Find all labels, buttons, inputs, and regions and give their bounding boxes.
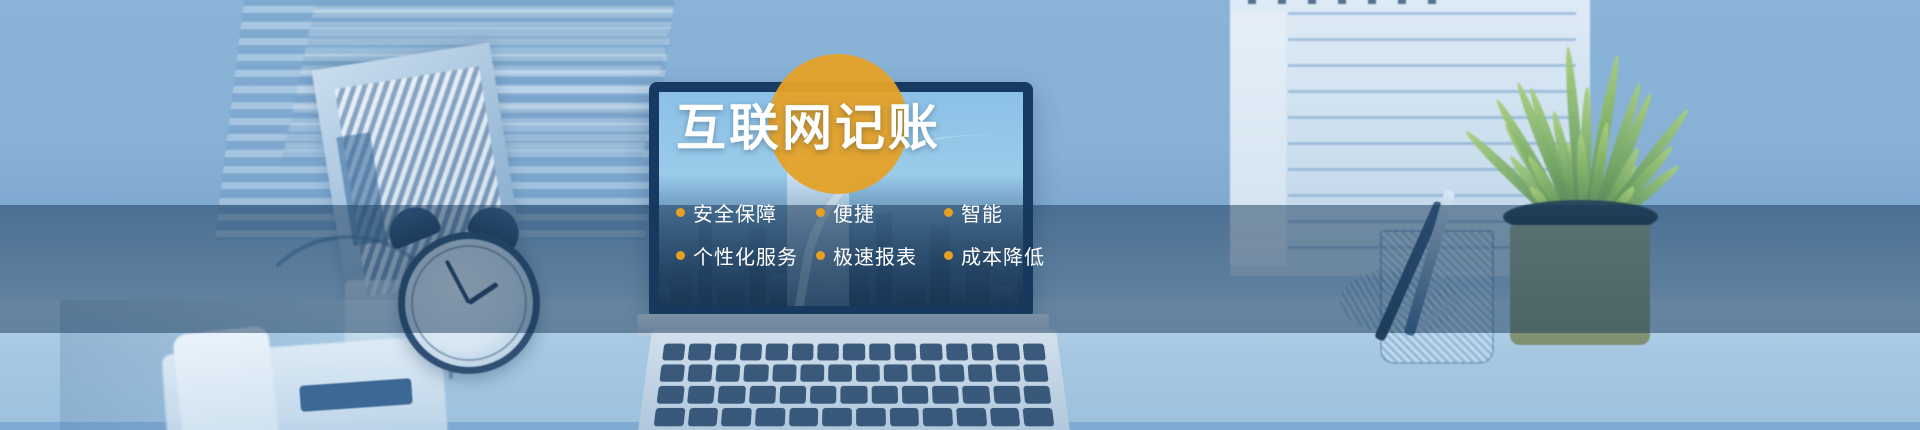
keyboard-key	[889, 408, 919, 426]
keyboard-key	[843, 344, 865, 361]
keyboard-key	[791, 344, 813, 361]
keyboard-key	[962, 386, 990, 404]
keyboard-key	[993, 386, 1021, 404]
laptop-keyboard	[654, 344, 1055, 427]
banner-content: 互联网记账 安全保障 便捷 智能 个性化服务	[676, 78, 1096, 284]
keyboard-key	[894, 344, 916, 361]
keyboard-key	[1023, 364, 1049, 381]
feature-label: 成本降低	[961, 241, 1045, 270]
keyboard-key	[800, 364, 824, 381]
keyboard-key	[789, 408, 819, 426]
feature-row-2: 个性化服务 极速报表 成本降低	[676, 241, 1056, 270]
keyboard-key	[662, 344, 686, 361]
dot-icon	[816, 208, 825, 217]
keyboard-key	[828, 364, 852, 381]
keyboard-key	[657, 386, 685, 404]
feature-label: 智能	[961, 198, 1003, 227]
keyboard-key	[997, 344, 1020, 361]
keyboard-key	[920, 344, 943, 361]
keyboard-key	[902, 386, 929, 404]
keyboard-key	[659, 364, 685, 381]
keyboard-key	[772, 364, 797, 381]
keyboard-key	[884, 364, 908, 381]
keyboard-key	[990, 408, 1021, 426]
feature-item-personalized-service: 个性化服务	[676, 241, 816, 270]
keyboard-key	[687, 408, 718, 426]
feature-row-1: 安全保障 便捷 智能	[676, 198, 1056, 227]
keyboard-key	[688, 344, 711, 361]
keyboard-key	[755, 408, 785, 426]
keyboard-key	[939, 364, 964, 381]
keyboard-key	[740, 344, 763, 361]
feature-label: 极速报表	[833, 241, 917, 270]
keyboard-key	[654, 408, 685, 426]
keyboard-key	[817, 344, 839, 361]
feature-label: 便捷	[833, 198, 875, 227]
page-title: 互联网记账	[676, 100, 1096, 158]
keyboard-row	[659, 364, 1048, 381]
feature-label: 个性化服务	[693, 241, 798, 270]
keyboard-key	[718, 386, 746, 404]
keyboard-key	[1022, 344, 1046, 361]
keyboard-row	[662, 344, 1046, 361]
laptop-deck	[638, 330, 1070, 430]
keyboard-key	[841, 386, 868, 404]
feature-label: 安全保障	[693, 198, 777, 227]
keyboard-key	[856, 408, 886, 426]
keyboard-key	[1023, 386, 1051, 404]
keyboard-key	[687, 386, 715, 404]
keyboard-row	[657, 386, 1052, 404]
keyboard-key	[967, 364, 992, 381]
keyboard-key	[912, 364, 937, 381]
keyboard-key	[923, 408, 953, 426]
keyboard-key	[932, 386, 959, 404]
feature-item-convenient: 便捷	[816, 198, 944, 227]
keyboard-key	[856, 364, 880, 381]
keyboard-key	[995, 364, 1021, 381]
feature-item-fast-reports: 极速报表	[816, 241, 944, 270]
feature-item-smart: 智能	[944, 198, 1003, 227]
keyboard-key	[822, 408, 852, 426]
keyboard-key	[971, 344, 994, 361]
feature-item-security: 安全保障	[676, 198, 816, 227]
keyboard-key	[749, 386, 776, 404]
keyboard-key	[766, 344, 789, 361]
feature-item-cost-reduction: 成本降低	[944, 241, 1045, 270]
promo-banner: 互联网记账 安全保障 便捷 智能 个性化服务	[0, 0, 1920, 430]
keyboard-key	[956, 408, 987, 426]
keyboard-key	[687, 364, 713, 381]
dot-icon	[676, 251, 685, 260]
keyboard-key	[714, 344, 737, 361]
keyboard-key	[1023, 408, 1054, 426]
keyboard-key	[945, 344, 968, 361]
dot-icon	[816, 251, 825, 260]
keyboard-key	[810, 386, 837, 404]
keyboard-key	[721, 408, 752, 426]
keyboard-row	[654, 408, 1055, 426]
feature-list: 安全保障 便捷 智能 个性化服务 极速报表	[676, 198, 1056, 270]
keyboard-key	[779, 386, 806, 404]
dot-icon	[944, 208, 953, 217]
keyboard-key	[716, 364, 741, 381]
keyboard-key	[871, 386, 898, 404]
keyboard-key	[869, 344, 891, 361]
keyboard-key	[744, 364, 769, 381]
dot-icon	[676, 208, 685, 217]
dot-icon	[944, 251, 953, 260]
